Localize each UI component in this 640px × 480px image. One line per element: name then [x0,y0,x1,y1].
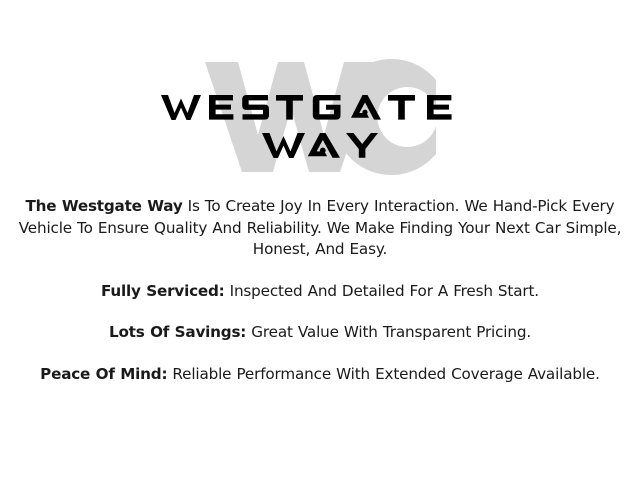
logo-block [0,52,640,178]
lots-of-savings-paragraph: Lots Of Savings: Great Value With Transp… [0,322,640,344]
intro-paragraph: The Westgate Way Is To Create Joy In Eve… [0,196,640,261]
lots-of-savings-lead: Lots Of Savings: [109,323,246,341]
fully-serviced-paragraph: Fully Serviced: Inspected And Detailed F… [0,281,640,303]
lots-of-savings-text: Great Value With Transparent Pricing. [246,323,531,341]
logo-lockup [0,52,640,178]
dealer-value-proposition-card: The Westgate Way Is To Create Joy In Eve… [0,0,640,480]
logo-wordmark-way [0,131,640,159]
peace-of-mind-lead: Peace Of Mind: [40,365,167,383]
intro-lead: The Westgate Way [26,197,183,215]
fully-serviced-lead: Fully Serviced: [101,282,225,300]
peace-of-mind-paragraph: Peace Of Mind: Reliable Performance With… [0,364,640,386]
fully-serviced-text: Inspected And Detailed For A Fresh Start… [225,282,539,300]
value-proposition-copy: The Westgate Way Is To Create Joy In Eve… [0,196,640,385]
peace-of-mind-text: Reliable Performance With Extended Cover… [167,365,599,383]
logo-wordmark-westgate [0,93,640,121]
